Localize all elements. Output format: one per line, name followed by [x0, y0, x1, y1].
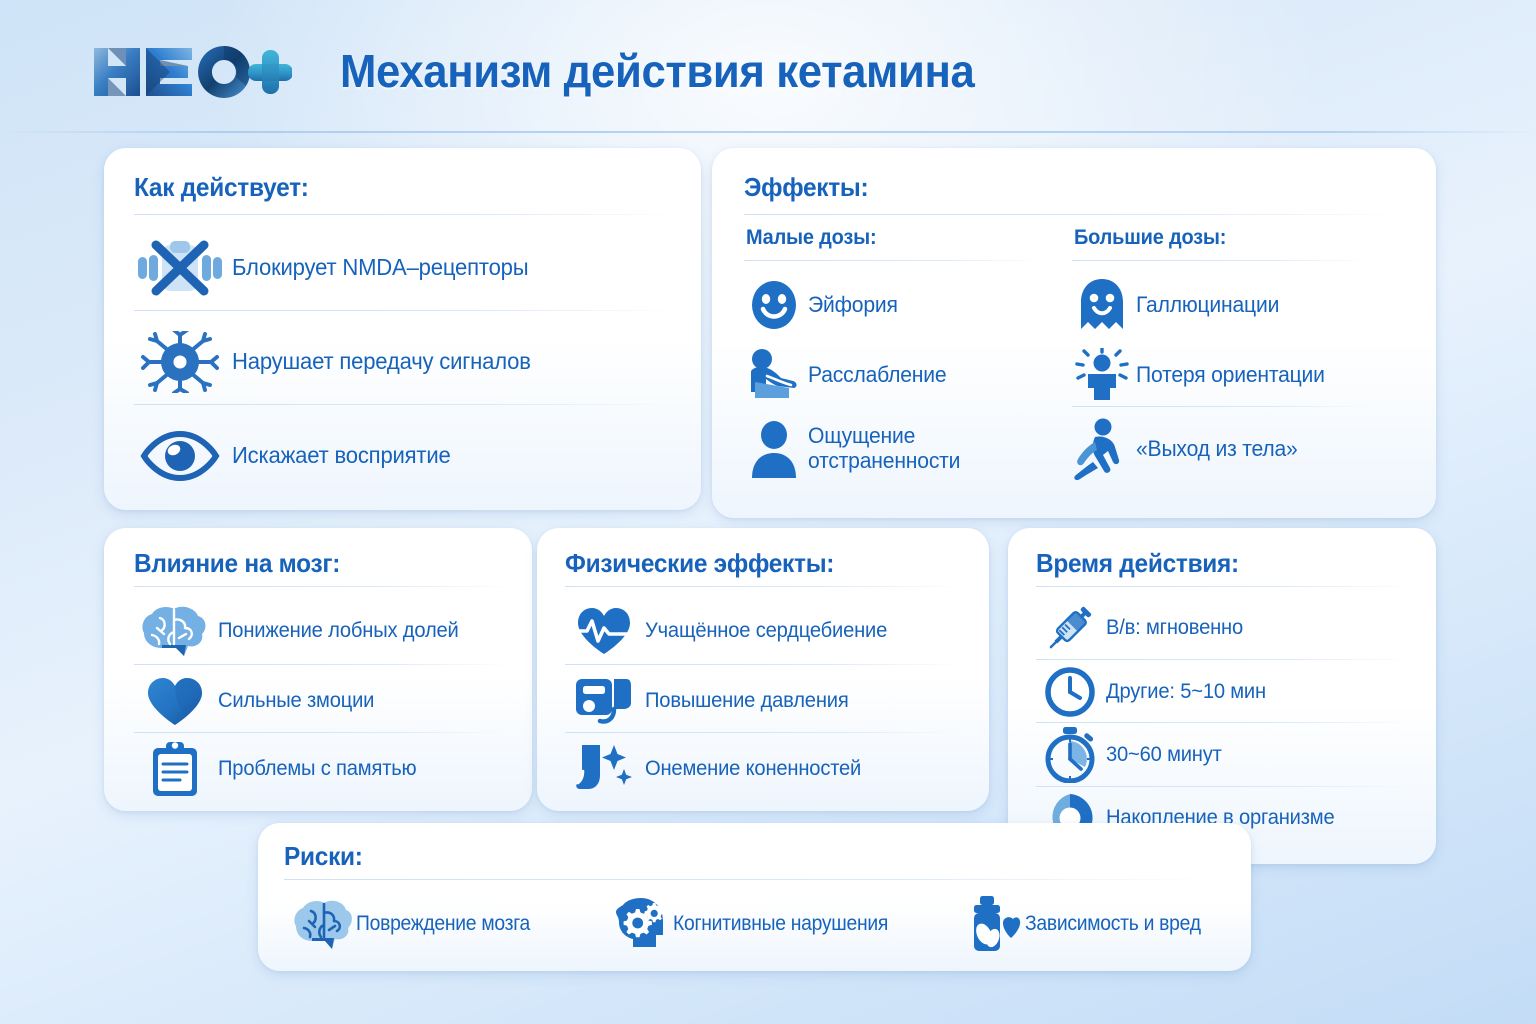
list-item[interactable]: Блокирует NMDA–рецепторы	[132, 232, 677, 304]
list-item-label: Эйфория	[808, 293, 898, 318]
divider	[1036, 659, 1414, 660]
list-item-label: Блокирует NMDA–рецепторы	[232, 255, 528, 281]
list-item-label: Зависимость и вред	[1025, 912, 1201, 936]
neuron-icon	[132, 326, 228, 398]
divider	[744, 214, 1404, 215]
list-item[interactable]: Другие: 5~10 мин	[1034, 662, 1418, 722]
list-item[interactable]: Повышение давления	[563, 670, 969, 732]
card-effects: Эффекты: Малые дозы: Эйфория	[712, 148, 1436, 518]
list-item[interactable]: Повреждение мозга	[290, 893, 545, 955]
nmda-receptor-blocked-icon	[132, 232, 228, 304]
column-title: Малые дозы:	[746, 226, 876, 250]
card-risks-title: Риски:	[284, 841, 363, 872]
list-item[interactable]: Учащённое сердцебиение	[563, 600, 969, 662]
list-item[interactable]: Проблемы с памятью	[132, 738, 514, 800]
header-divider	[0, 131, 1536, 133]
person-reclining-icon	[742, 344, 806, 406]
page-header: Механизм действия кетамина	[0, 0, 1536, 132]
divider	[134, 586, 512, 587]
card-brain-impact: Влияние на мозг: Понижение лобных долей	[104, 528, 532, 811]
card-how-title: Как действует:	[134, 172, 309, 203]
list-item-label: Повышение давления	[645, 689, 849, 713]
ghost-icon	[1070, 274, 1134, 336]
list-item[interactable]: Эйфория	[742, 274, 1064, 336]
card-timing-title: Время действия:	[1036, 548, 1239, 579]
smiley-face-icon	[742, 274, 806, 336]
divider	[565, 732, 963, 733]
list-item-label: Понижение лобных долей	[218, 619, 459, 643]
list-item-label: Когнитивные нарушения	[673, 912, 888, 936]
out-of-body-person-icon	[1070, 418, 1134, 480]
list-item-label: Учащённое сердцебиение	[645, 619, 887, 643]
list-item-label: Нарушает передачу сигналов	[232, 349, 531, 375]
list-item[interactable]: Сильные змоции	[132, 670, 514, 732]
card-brain-title: Влияние на мозг:	[134, 548, 340, 579]
pill-bottle-icon	[959, 893, 1025, 955]
divider	[1036, 786, 1414, 787]
list-item[interactable]: В/в: мгновенно	[1034, 598, 1418, 658]
blood-pressure-monitor-icon	[563, 672, 645, 730]
column-title: Большие дозы:	[1074, 226, 1226, 250]
list-item-label: Проблемы с памятью	[218, 757, 416, 781]
list-item[interactable]: Расслабление	[742, 344, 1064, 406]
list-item[interactable]: 30~60 минут	[1034, 725, 1418, 785]
list-item-label: Ощущение отстраненности	[808, 424, 960, 473]
divider	[134, 732, 512, 733]
person-silhouette-icon	[742, 418, 806, 480]
divider	[134, 310, 679, 311]
divider	[1072, 406, 1370, 407]
list-item[interactable]: Потеря ориентации	[1070, 344, 1392, 406]
heo-plus-logo	[92, 40, 292, 102]
syringe-icon	[1034, 599, 1106, 657]
list-item[interactable]: Ощущение отстраненности	[742, 414, 1064, 484]
list-item-label: 30~60 минут	[1106, 743, 1222, 767]
risks-list: Повреждение мозга Когнитивные нарушения	[280, 889, 1230, 959]
list-item-label: Галлюцинации	[1136, 293, 1279, 318]
divider	[565, 586, 963, 587]
list-item-label: В/в: мгновенно	[1106, 616, 1243, 640]
divider	[1036, 722, 1414, 723]
divider	[134, 664, 512, 665]
divider	[565, 664, 963, 665]
list-item-label: Другие: 5~10 мин	[1106, 680, 1266, 704]
list-item-label: Потеря ориентации	[1136, 363, 1325, 388]
head-gears-icon	[607, 893, 673, 955]
clock-icon	[1034, 663, 1106, 721]
brain-icon	[132, 602, 218, 660]
heart-icon	[132, 672, 218, 730]
list-item[interactable]: Искажает восприятие	[132, 420, 677, 492]
eye-icon	[132, 420, 228, 492]
list-item[interactable]: «Выход из тела»	[1070, 414, 1392, 484]
brain-damage-icon	[290, 893, 356, 955]
card-how-it-works: Как действует: Блокирует NMDA–рецепторы	[104, 148, 701, 510]
disoriented-person-icon	[1070, 344, 1134, 406]
clipboard-icon	[132, 740, 218, 798]
page-title: Механизм действия кетамина	[340, 44, 974, 98]
list-item-label: Сильные змоции	[218, 689, 374, 713]
list-item-label: Искажает восприятие	[232, 443, 451, 469]
list-item-label: Повреждение мозга	[356, 912, 530, 936]
card-onset-duration: Время действия: В/в:	[1008, 528, 1436, 864]
divider	[134, 404, 679, 405]
list-item[interactable]: Онемение коненностей	[563, 738, 969, 800]
divider	[1072, 260, 1370, 261]
divider	[1036, 586, 1414, 587]
heart-pulse-icon	[563, 602, 645, 660]
card-physical-title: Физические эффекты:	[565, 548, 834, 579]
list-item-label: Онемение коненностей	[645, 757, 861, 781]
list-item-label: «Выход из тела»	[1136, 437, 1298, 462]
card-effects-title: Эффекты:	[744, 172, 868, 203]
card-physical-effects: Физические эффекты: Учащённое сердцебиен…	[537, 528, 989, 811]
divider	[284, 879, 1214, 880]
list-item[interactable]: Нарушает передачу сигналов	[132, 326, 677, 398]
list-item[interactable]: Галлюцинации	[1070, 274, 1392, 336]
list-item[interactable]: Понижение лобных долей	[132, 600, 514, 662]
list-item[interactable]: Зависимость и вред	[959, 893, 1216, 955]
list-item[interactable]: Когнитивные нарушения	[607, 893, 907, 955]
list-item-label: Расслабление	[808, 363, 946, 388]
divider	[134, 214, 679, 215]
numb-foot-icon	[563, 740, 645, 798]
stopwatch-icon	[1034, 726, 1106, 784]
divider	[744, 260, 1042, 261]
card-risks: Риски: Повреждение мозга	[258, 823, 1251, 971]
